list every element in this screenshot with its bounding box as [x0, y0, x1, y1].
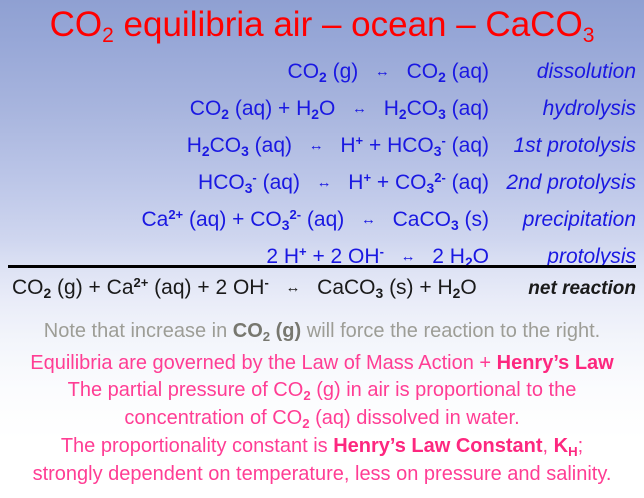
title-text-mid: equilibria air – ocean – CaCO [114, 5, 583, 44]
paragraph-line-1-pre: Equilibria are governed by the Law of Ma… [30, 352, 496, 374]
equation-formula: CO2 (g) ↔ CO2 (aq) [0, 53, 489, 92]
equation-label-protolysis: protolysis [489, 238, 644, 275]
equation-list: CO2 (g) ↔ CO2 (aq) dissolution CO2 (aq) … [0, 53, 644, 275]
paragraph-line-1-bold: Henry’s Law [497, 352, 614, 374]
equation-row-first-protolysis: H2CO3 (aq) ↔ H+ + HCO3- (aq) 1st protoly… [0, 127, 644, 164]
net-reaction-label: net reaction [489, 274, 644, 304]
equation-row-dissolution: CO2 (g) ↔ CO2 (aq) dissolution [0, 53, 644, 90]
title-subscript-2: 3 [583, 24, 595, 47]
henry-constant-subscript: H [568, 444, 578, 459]
note-bold-post: (g) [270, 320, 301, 342]
slide-canvas: CO2 equilibria air – ocean – CaCO3 CO2 (… [0, 0, 644, 498]
equation-label-dissolution: dissolution [489, 53, 644, 90]
paragraph-line-2: The partial pressure of CO2 (g) in air i… [0, 377, 644, 405]
equilibrium-arrow-icon: ↔ [396, 248, 421, 265]
equilibrium-arrow-icon: ↔ [356, 211, 381, 228]
equation-row-precipitation: Ca2+ (aq) + CO32- (aq) ↔ CaCO3 (s) preci… [0, 201, 644, 238]
paragraph-line-3: concentration of CO2 (aq) dissolved in w… [0, 405, 644, 433]
paragraph-line-1: Equilibria are governed by the Law of Ma… [0, 350, 644, 377]
equation-formula: H2CO3 (aq) ↔ H+ + HCO3- (aq) [0, 127, 489, 166]
note-text: Note that increase in CO2 (g) will force… [0, 317, 644, 347]
paragraph-line-4: The proportionality constant is Henry’s … [0, 433, 644, 461]
net-reaction-formula: CO2 (g) + Ca2+ (aq) + 2 OH- ↔ CaCO3 (s) … [0, 273, 489, 305]
horizontal-divider [8, 265, 636, 268]
equation-formula: Ca2+ (aq) + CO32- (aq) ↔ CaCO3 (s) [0, 201, 489, 240]
equilibrium-arrow-icon: ↔ [312, 174, 337, 191]
equation-row-protolysis: 2 H+ + 2 OH- ↔ 2 H2O protolysis [0, 238, 644, 275]
equation-label-hydrolysis: hydrolysis [489, 90, 644, 127]
henrys-law-paragraph: Equilibria are governed by the Law of Ma… [0, 350, 644, 488]
note-part-2: will force the reaction to the right. [301, 320, 600, 342]
note-highlight: CO2 (g) [233, 320, 301, 342]
equilibrium-arrow-icon: ↔ [347, 100, 372, 117]
paragraph-line-2-post: (g) in air is proportional to the [311, 379, 577, 401]
equation-row-second-protolysis: HCO3- (aq) ↔ H+ + CO32- (aq) 2nd protoly… [0, 164, 644, 201]
paragraph-line-3-pre: concentration of CO [124, 407, 302, 429]
equation-formula: 2 H+ + 2 OH- ↔ 2 H2O [0, 238, 489, 277]
paragraph-line-3-subscript: 2 [302, 416, 309, 431]
equation-label-precipitation: precipitation [489, 201, 644, 238]
equation-formula: HCO3- (aq) ↔ H+ + CO32- (aq) [0, 164, 489, 203]
paragraph-line-4-mid: , [543, 435, 554, 457]
equilibrium-arrow-icon: ↔ [370, 63, 395, 80]
note-bold-pre: CO [233, 320, 263, 342]
note-bold-subscript: 2 [263, 329, 270, 344]
net-reaction-row: CO2 (g) + Ca2+ (aq) + 2 OH- ↔ CaCO3 (s) … [0, 273, 644, 305]
paragraph-line-5: strongly dependent on temperature, less … [0, 461, 644, 488]
henry-constant-symbol: KH [554, 435, 578, 457]
equilibrium-arrow-icon: ↔ [281, 279, 306, 296]
equation-label-first-protolysis: 1st protolysis [489, 127, 644, 164]
paragraph-line-4-bold: Henry’s Law Constant [333, 435, 542, 457]
equation-row-hydrolysis: CO2 (aq) + H2O ↔ H2CO3 (aq) hydrolysis [0, 90, 644, 127]
paragraph-line-4-pre: The proportionality constant is [61, 435, 333, 457]
equation-label-second-protolysis: 2nd protolysis [489, 164, 644, 201]
note-part-1: Note that increase in [44, 320, 233, 342]
title-text-pre: CO [50, 5, 103, 44]
paragraph-line-2-subscript: 2 [303, 388, 310, 403]
title-subscript-1: 2 [102, 24, 114, 47]
paragraph-line-4-post: ; [578, 435, 584, 457]
equation-formula: CO2 (aq) + H2O ↔ H2CO3 (aq) [0, 90, 489, 129]
paragraph-line-3-post: (aq) dissolved in water. [310, 407, 520, 429]
equilibrium-arrow-icon: ↔ [304, 137, 329, 154]
page-title: CO2 equilibria air – ocean – CaCO3 [0, 4, 644, 51]
paragraph-line-2-pre: The partial pressure of CO [68, 379, 304, 401]
henry-constant-k: K [554, 435, 568, 457]
